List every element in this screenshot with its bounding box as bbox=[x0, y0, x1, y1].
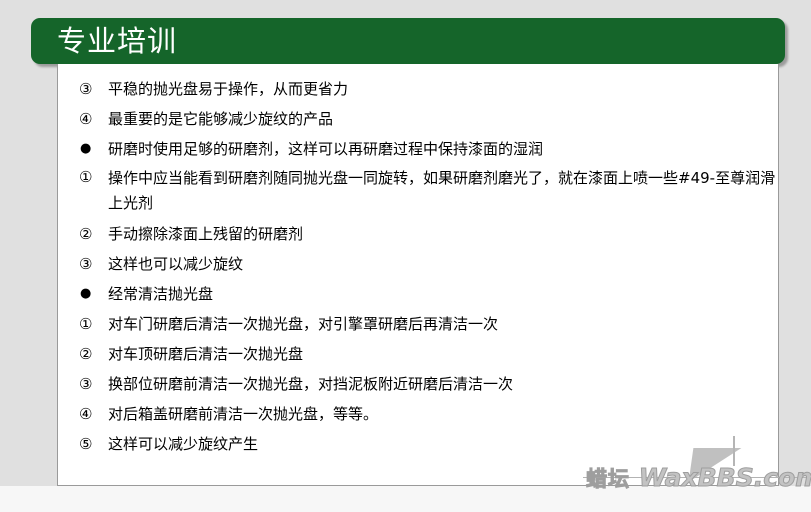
circled-number-marker: ② bbox=[79, 219, 105, 249]
circled-number-marker: ③ bbox=[79, 249, 105, 279]
slide-title-bar: 专业培训 bbox=[31, 18, 785, 64]
bullet-marker-icon: ● bbox=[80, 279, 106, 309]
list-item-text: 平稳的抛光盘易于操作，从而更省力 bbox=[108, 74, 348, 104]
list-item-text: 换部位研磨前清洁一次抛光盘，对挡泥板附近研磨后清洁一次 bbox=[108, 369, 513, 399]
circled-number-marker: ④ bbox=[79, 104, 105, 134]
circled-number-marker: ④ bbox=[79, 399, 105, 429]
list-item: ③这样也可以减少旋纹 bbox=[58, 249, 779, 279]
content-panel: ③平稳的抛光盘易于操作，从而更省力④最重要的是它能够减少旋纹的产品●研磨时使用足… bbox=[57, 64, 779, 486]
list-item-text: 对后箱盖研磨前清洁一次抛光盘，等等。 bbox=[108, 399, 378, 429]
list-item: ●经常清洁抛光盘 bbox=[58, 279, 779, 309]
list-item: ⑤这样可以减少旋纹产生 bbox=[58, 429, 779, 459]
bullet-marker-icon: ● bbox=[80, 134, 106, 164]
list-item: ④对后箱盖研磨前清洁一次抛光盘，等等。 bbox=[58, 399, 779, 429]
list-item: ③换部位研磨前清洁一次抛光盘，对挡泥板附近研磨后清洁一次 bbox=[58, 369, 779, 399]
list-item-text: 手动擦除漆面上残留的研磨剂 bbox=[108, 219, 303, 249]
list-item-text: 对车顶研磨后清洁一次抛光盘 bbox=[108, 339, 303, 369]
circled-number-marker: ① bbox=[79, 309, 105, 339]
bullet-list: ③平稳的抛光盘易于操作，从而更省力④最重要的是它能够减少旋纹的产品●研磨时使用足… bbox=[58, 74, 779, 459]
list-item: ④最重要的是它能够减少旋纹的产品 bbox=[58, 104, 779, 134]
circled-number-marker: ② bbox=[79, 339, 105, 369]
list-item: ①对车门研磨后清洁一次抛光盘，对引擎罩研磨后再清洁一次 bbox=[58, 309, 779, 339]
list-item: ③平稳的抛光盘易于操作，从而更省力 bbox=[58, 74, 779, 104]
list-item: ②对车顶研磨后清洁一次抛光盘 bbox=[58, 339, 779, 369]
list-item: ①操作中应当能看到研磨剂随同抛光盘一同旋转，如果研磨剂磨光了，就在漆面上喷一些#… bbox=[58, 164, 779, 219]
list-item-text: 这样也可以减少旋纹 bbox=[108, 249, 243, 279]
circled-number-marker: ③ bbox=[79, 74, 105, 104]
circled-number-marker: ③ bbox=[79, 369, 105, 399]
list-item-text: 研磨时使用足够的研磨剂，这样可以再研磨过程中保持漆面的湿润 bbox=[108, 134, 543, 164]
circled-number-marker: ① bbox=[79, 164, 105, 191]
list-item-text: 这样可以减少旋纹产生 bbox=[108, 429, 258, 459]
list-item-text: 最重要的是它能够减少旋纹的产品 bbox=[108, 104, 333, 134]
page-title: 专业培训 bbox=[57, 22, 177, 60]
list-item: ●研磨时使用足够的研磨剂，这样可以再研磨过程中保持漆面的湿润 bbox=[58, 134, 779, 164]
circled-number-marker: ⑤ bbox=[79, 429, 105, 459]
list-item-text: 操作中应当能看到研磨剂随同抛光盘一同旋转，如果研磨剂磨光了，就在漆面上喷一些#4… bbox=[108, 166, 779, 216]
list-item-text: 经常清洁抛光盘 bbox=[108, 279, 213, 309]
slide-canvas: 专业培训 ③平稳的抛光盘易于操作，从而更省力④最重要的是它能够减少旋纹的产品●研… bbox=[0, 0, 811, 512]
list-item-text: 对车门研磨后清洁一次抛光盘，对引擎罩研磨后再清洁一次 bbox=[108, 309, 498, 339]
list-item: ②手动擦除漆面上残留的研磨剂 bbox=[58, 219, 779, 249]
bottom-strip bbox=[0, 486, 811, 512]
